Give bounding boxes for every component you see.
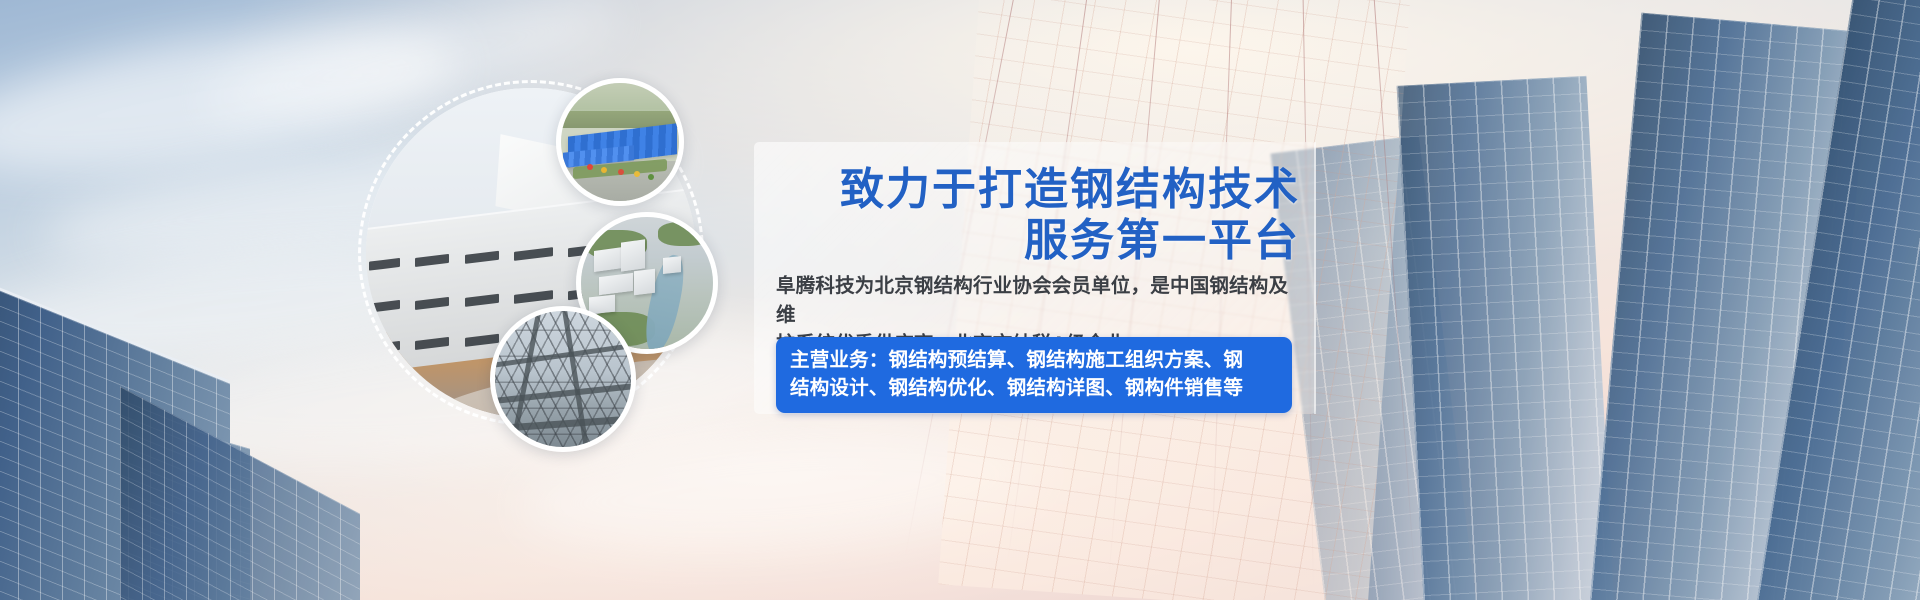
panel-right-edge bbox=[1314, 142, 1316, 414]
page-title: 致力于打造钢结构技术 服务第一平台 bbox=[780, 164, 1300, 266]
photo-circle-steel-truss-structure bbox=[490, 306, 636, 452]
photo-circle-blue-roof-factory bbox=[556, 78, 684, 206]
skyscraper-slab bbox=[1397, 76, 1620, 600]
status-badge: 主营业务：钢结构预结算、钢结构施工组织方案、钢 结构设计、钢结构优化、钢结构详图… bbox=[776, 337, 1292, 413]
skyscraper-slab bbox=[120, 386, 360, 600]
glass-curtain-wall-left bbox=[0, 200, 390, 600]
hero-banner: 致力于打造钢结构技术 服务第一平台 阜腾科技为北京钢结构行业协会会员单位，是中国… bbox=[0, 0, 1920, 600]
